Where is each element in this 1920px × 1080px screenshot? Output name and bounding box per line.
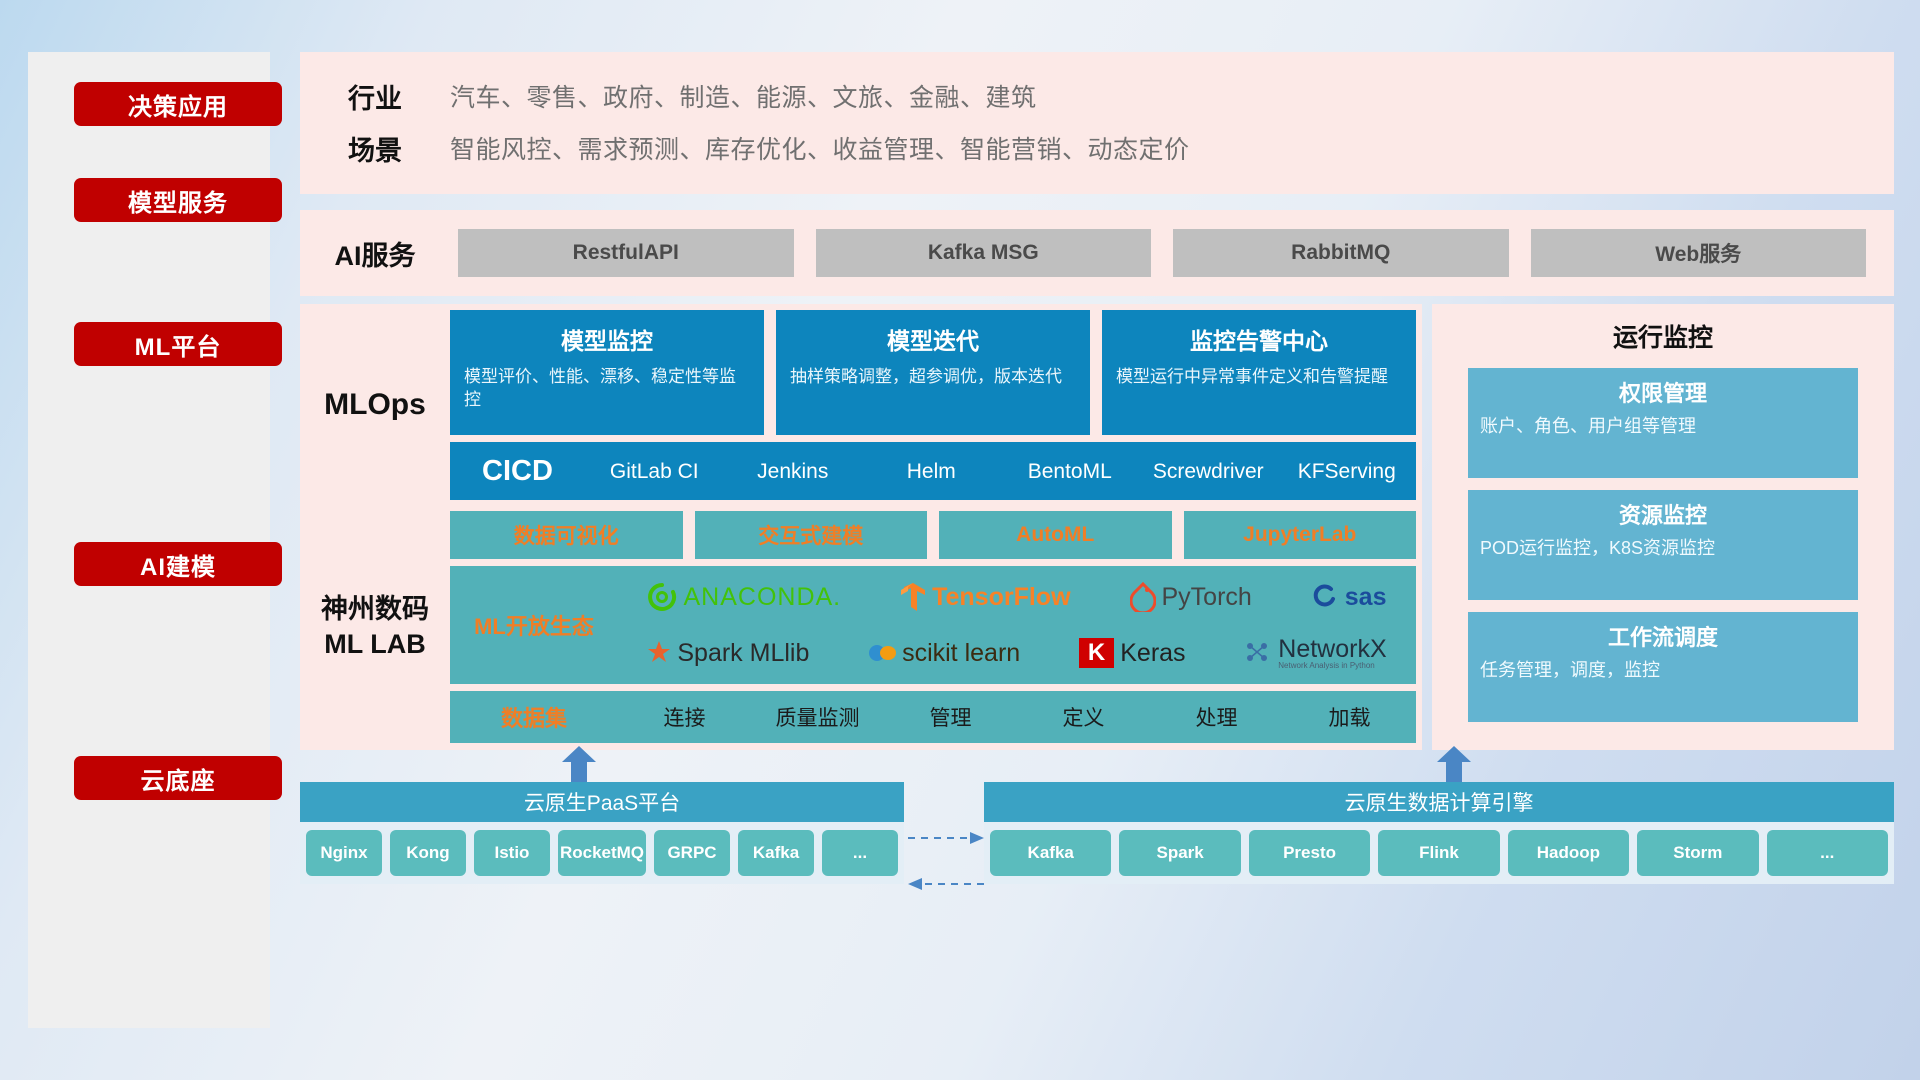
rail-item-label: 决策应用 <box>128 87 228 122</box>
mlops-card-title: 模型监控 <box>464 322 750 356</box>
ai-service-band: AI服务 RestfulAPI Kafka MSG RabbitMQ Web服务 <box>300 210 1894 296</box>
ml-open-ecosystem-row: ML开放生态 ANACONDA. <box>450 566 1416 684</box>
cicd-item-bentoml[interactable]: BentoML <box>1001 461 1140 482</box>
sas-icon <box>1311 583 1339 611</box>
cicd-item-gitlab-ci[interactable]: GitLab CI <box>585 461 724 482</box>
dataset-item-quality[interactable]: 质量监测 <box>751 702 884 732</box>
arrow-up-data-engine-icon <box>1437 746 1471 782</box>
runtime-monitoring-title: 运行监控 <box>1468 318 1858 354</box>
scene-values: 智能风控、需求预测、库存优化、收益管理、智能营销、动态定价 <box>450 130 1190 166</box>
cicd-title: CICD <box>450 455 585 488</box>
anaconda-logo: ANACONDA. <box>647 582 841 612</box>
cicd-item-screwdriver[interactable]: Screwdriver <box>1139 461 1278 482</box>
tool-chip-jupyterlab[interactable]: JupyterLab <box>1184 511 1417 559</box>
dataset-row: 数据集 连接 质量监测 管理 定义 处理 加载 <box>450 691 1416 743</box>
tensorflow-logo: TensorFlow <box>900 582 1070 612</box>
ml-lab-label-line2: ML LAB <box>300 627 450 662</box>
pytorch-logo: PyTorch <box>1130 582 1252 612</box>
monitor-card-resource[interactable]: 资源监控 POD运行监控，K8S资源监控 <box>1468 490 1858 600</box>
cloud-native-data-engine-block: 云原生数据计算引擎 Kafka Spark Presto Flink Hadoo… <box>984 782 1894 884</box>
scikit-learn-logo: scikit learn <box>868 639 1020 668</box>
mlops-card-alert-center[interactable]: 监控告警中心 模型运行中异常事件定义和告警提醒 <box>1102 310 1416 435</box>
tool-chip-data-visualization[interactable]: 数据可视化 <box>450 511 683 559</box>
mlops-card-desc: 抽样策略调整，超参调优，版本迭代 <box>790 366 1076 389</box>
cloud-chip-rocketmq[interactable]: RocketMQ <box>558 830 646 876</box>
dataset-item-process[interactable]: 处理 <box>1150 702 1283 732</box>
tool-chip-interactive-modeling[interactable]: 交互式建模 <box>695 511 928 559</box>
anaconda-label: ANACONDA. <box>683 583 841 612</box>
cloud-paas-chip-list: Nginx Kong Istio RocketMQ GRPC Kafka ... <box>300 822 904 884</box>
data-chip-kafka[interactable]: Kafka <box>990 830 1111 876</box>
mlops-card-title: 模型迭代 <box>790 322 1076 356</box>
cicd-item-helm[interactable]: Helm <box>862 461 1001 482</box>
industry-row: 行业 汽车、零售、政府、制造、能源、文旅、金融、建筑 <box>300 70 1894 122</box>
tool-chip-automl[interactable]: AutoML <box>939 511 1172 559</box>
keras-label: Keras <box>1120 639 1185 668</box>
mlops-card-list: 模型监控 模型评价、性能、漂移、稳定性等监控 模型迭代 抽样策略调整，超参调优，… <box>450 310 1416 435</box>
ai-service-label: AI服务 <box>300 234 450 273</box>
dataset-item-manage[interactable]: 管理 <box>884 702 1017 732</box>
ai-service-chip-list: RestfulAPI Kafka MSG RabbitMQ Web服务 <box>450 229 1894 277</box>
keras-logo: K Keras <box>1079 638 1186 668</box>
dataset-item-define[interactable]: 定义 <box>1017 702 1150 732</box>
networkx-icon <box>1244 640 1272 666</box>
cloud-data-engine-header: 云原生数据计算引擎 <box>984 782 1894 822</box>
mlops-card-desc: 模型评价、性能、漂移、稳定性等监控 <box>464 366 750 412</box>
monitor-card-permission[interactable]: 权限管理 账户、角色、用户组等管理 <box>1468 368 1858 478</box>
ai-service-chip-rabbitmq[interactable]: RabbitMQ <box>1173 229 1509 277</box>
mlops-band: MLOps 模型监控 模型评价、性能、漂移、稳定性等监控 模型迭代 抽样策略调整… <box>300 304 1422 506</box>
monitor-card-title: 资源监控 <box>1480 498 1846 530</box>
stack-layer-rail: 决策应用 模型服务 ML平台 AI建模 云底座 <box>28 52 270 1028</box>
sas-logo: sas <box>1311 583 1387 612</box>
spark-mllib-logo: Spark MLlib <box>647 639 809 668</box>
bidirectional-link-icon <box>906 820 986 906</box>
ml-open-ecosystem-label: ML开放生态 <box>450 609 618 641</box>
data-chip-hadoop[interactable]: Hadoop <box>1508 830 1629 876</box>
monitor-card-desc: POD运行监控，K8S资源监控 <box>1480 536 1846 560</box>
rail-item-ml-platform[interactable]: ML平台 <box>74 322 282 366</box>
ml-lab-tool-list: 数据可视化 交互式建模 AutoML JupyterLab <box>450 511 1416 559</box>
dataset-item-connect[interactable]: 连接 <box>618 702 751 732</box>
cloud-chip-nginx[interactable]: Nginx <box>306 830 382 876</box>
monitor-card-title: 权限管理 <box>1480 376 1846 408</box>
ml-lab-band: 神州数码 ML LAB 数据可视化 交互式建模 AutoML JupyterLa… <box>300 504 1422 750</box>
mlops-card-desc: 模型运行中异常事件定义和告警提醒 <box>1116 366 1402 389</box>
monitor-card-title: 工作流调度 <box>1480 620 1846 652</box>
data-chip-flink[interactable]: Flink <box>1378 830 1499 876</box>
mlops-card-title: 监控告警中心 <box>1116 322 1402 356</box>
industry-key: 行业 <box>300 77 450 116</box>
sas-label: sas <box>1345 583 1387 612</box>
rail-item-ai-modeling[interactable]: AI建模 <box>74 542 282 586</box>
cicd-item-kfserving[interactable]: KFServing <box>1278 461 1417 482</box>
data-chip-storm[interactable]: Storm <box>1637 830 1758 876</box>
arrow-up-paas-icon <box>562 746 596 782</box>
ai-service-chip-restfulapi[interactable]: RestfulAPI <box>458 229 794 277</box>
cicd-bar: CICD GitLab CI Jenkins Helm BentoML Scre… <box>450 442 1416 500</box>
cloud-chip-more[interactable]: ... <box>822 830 898 876</box>
scikit-learn-label: scikit learn <box>902 639 1020 668</box>
cloud-chip-grpc[interactable]: GRPC <box>654 830 730 876</box>
mlops-label: MLOps <box>300 388 450 422</box>
scene-key: 场景 <box>300 129 450 168</box>
dataset-item-list: 连接 质量监测 管理 定义 处理 加载 <box>618 702 1416 732</box>
cloud-native-paas-block: 云原生PaaS平台 Nginx Kong Istio RocketMQ GRPC… <box>300 782 904 884</box>
rail-item-decision-app[interactable]: 决策应用 <box>74 82 282 126</box>
keras-k-icon: K <box>1079 638 1114 668</box>
monitor-card-workflow[interactable]: 工作流调度 任务管理，调度，监控 <box>1468 612 1858 722</box>
ml-lab-content: 数据可视化 交互式建模 AutoML JupyterLab ML开放生态 ANA… <box>450 511 1422 743</box>
data-chip-spark[interactable]: Spark <box>1119 830 1240 876</box>
cloud-chip-istio[interactable]: Istio <box>474 830 550 876</box>
rail-item-label: 云底座 <box>141 761 216 796</box>
networkx-logo: NetworkX Network Analysis in Python <box>1244 637 1386 670</box>
anaconda-icon <box>647 582 677 612</box>
data-chip-more[interactable]: ... <box>1767 830 1888 876</box>
cloud-chip-kafka[interactable]: Kafka <box>738 830 814 876</box>
data-chip-presto[interactable]: Presto <box>1249 830 1370 876</box>
tensorflow-icon <box>900 582 926 612</box>
rail-item-cloud-base[interactable]: 云底座 <box>74 756 282 800</box>
monitor-card-desc: 任务管理，调度，监控 <box>1480 658 1846 682</box>
cloud-data-engine-chip-list: Kafka Spark Presto Flink Hadoop Storm ..… <box>984 822 1894 884</box>
spark-mllib-label: Spark MLlib <box>677 639 809 668</box>
scene-row: 场景 智能风控、需求预测、库存优化、收益管理、智能营销、动态定价 <box>300 122 1894 174</box>
ml-lab-label: 神州数码 ML LAB <box>300 592 450 662</box>
spark-star-icon <box>647 640 671 666</box>
dataset-label: 数据集 <box>450 701 618 733</box>
ai-service-chip-web[interactable]: Web服务 <box>1531 229 1867 277</box>
mlops-content: 模型监控 模型评价、性能、漂移、稳定性等监控 模型迭代 抽样策略调整，超参调优，… <box>450 310 1422 500</box>
pytorch-label: PyTorch <box>1162 583 1252 612</box>
industry-scene-band: 行业 汽车、零售、政府、制造、能源、文旅、金融、建筑 场景 智能风控、需求预测、… <box>300 52 1894 194</box>
scikit-learn-icon <box>868 640 896 666</box>
cicd-item-list: GitLab CI Jenkins Helm BentoML Screwdriv… <box>585 461 1416 482</box>
ml-lab-label-line1: 神州数码 <box>300 592 450 627</box>
dataset-item-load[interactable]: 加载 <box>1283 702 1416 732</box>
ecosystem-logo-grid: ANACONDA. TensorFlow <box>618 570 1416 680</box>
networkx-label: NetworkX <box>1278 637 1386 662</box>
mlops-card-model-iteration[interactable]: 模型迭代 抽样策略调整，超参调优，版本迭代 <box>776 310 1090 435</box>
tensorflow-label: TensorFlow <box>932 583 1070 612</box>
industry-values: 汽车、零售、政府、制造、能源、文旅、金融、建筑 <box>450 78 1037 114</box>
ai-service-chip-kafka-msg[interactable]: Kafka MSG <box>816 229 1152 277</box>
rail-item-model-service[interactable]: 模型服务 <box>74 178 282 222</box>
pytorch-icon <box>1130 582 1156 612</box>
networkx-subtitle: Network Analysis in Python <box>1278 662 1386 670</box>
cloud-paas-header: 云原生PaaS平台 <box>300 782 904 822</box>
cloud-chip-kong[interactable]: Kong <box>390 830 466 876</box>
mlops-card-model-monitoring[interactable]: 模型监控 模型评价、性能、漂移、稳定性等监控 <box>450 310 764 435</box>
ecosystem-logo-row-1: ANACONDA. TensorFlow <box>618 570 1416 624</box>
cicd-item-jenkins[interactable]: Jenkins <box>724 461 863 482</box>
ecosystem-logo-row-2: Spark MLlib scikit learn K Keras <box>618 626 1416 680</box>
runtime-monitoring-panel: 运行监控 权限管理 账户、角色、用户组等管理 资源监控 POD运行监控，K8S资… <box>1432 304 1894 750</box>
rail-item-label: ML平台 <box>135 327 222 362</box>
monitor-card-desc: 账户、角色、用户组等管理 <box>1480 414 1846 438</box>
rail-item-label: AI建模 <box>140 547 216 582</box>
rail-item-label: 模型服务 <box>128 183 228 218</box>
